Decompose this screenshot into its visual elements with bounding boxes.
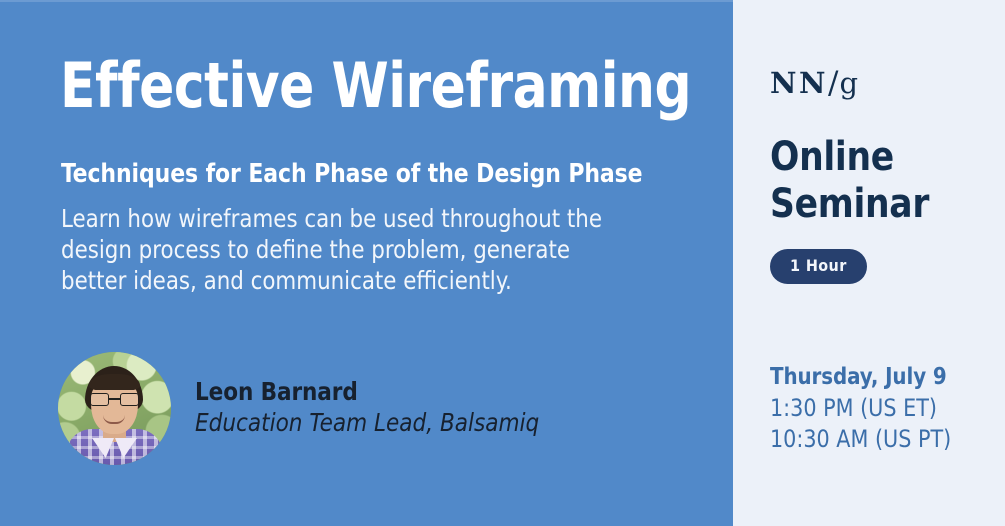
seminar-description: Learn how wireframes can be used through…: [61, 203, 631, 296]
event-type-line-1: Online: [770, 134, 929, 181]
avatar: [58, 352, 171, 465]
right-info-panel: NN / g Online Seminar 1 Hour Thursday, J…: [733, 0, 1005, 526]
duration-badge[interactable]: 1 Hour: [770, 249, 867, 284]
speaker-name: Leon Barnard: [195, 377, 539, 407]
speaker-text-group: Leon Barnard Education Team Lead, Balsam…: [195, 377, 554, 440]
schedule-date: Thursday, July 9: [770, 362, 951, 393]
event-type-line-2: Seminar: [770, 181, 929, 228]
seminar-promo-card: Effective Wireframing Techniques for Eac…: [0, 0, 1005, 526]
avatar-lens-left: [90, 393, 109, 406]
seminar-title: Effective Wireframing: [60, 54, 691, 117]
avatar-fringe: [89, 374, 140, 390]
glasses-icon: [90, 393, 139, 406]
speaker-block: Leon Barnard Education Team Lead, Balsam…: [58, 352, 554, 465]
schedule-time-et: 1:30 PM (US ET): [770, 393, 951, 424]
left-content-panel: Effective Wireframing Techniques for Eac…: [0, 0, 733, 526]
seminar-subtitle: Techniques for Each Phase of the Design …: [61, 160, 643, 190]
schedule-time-pt: 10:30 AM (US PT): [770, 424, 951, 455]
event-type-heading: Online Seminar: [770, 134, 929, 228]
speaker-role: Education Team Lead, Balsamiq: [195, 407, 539, 438]
nng-logo: NN / g: [770, 68, 858, 99]
logo-nn-text: NN: [770, 69, 828, 98]
logo-slash-icon: /: [828, 68, 838, 99]
avatar-lens-right: [120, 393, 139, 406]
logo-g-text: g: [839, 69, 858, 98]
event-schedule: Thursday, July 9 1:30 PM (US ET) 10:30 A…: [770, 362, 959, 455]
avatar-bridge: [109, 398, 120, 400]
